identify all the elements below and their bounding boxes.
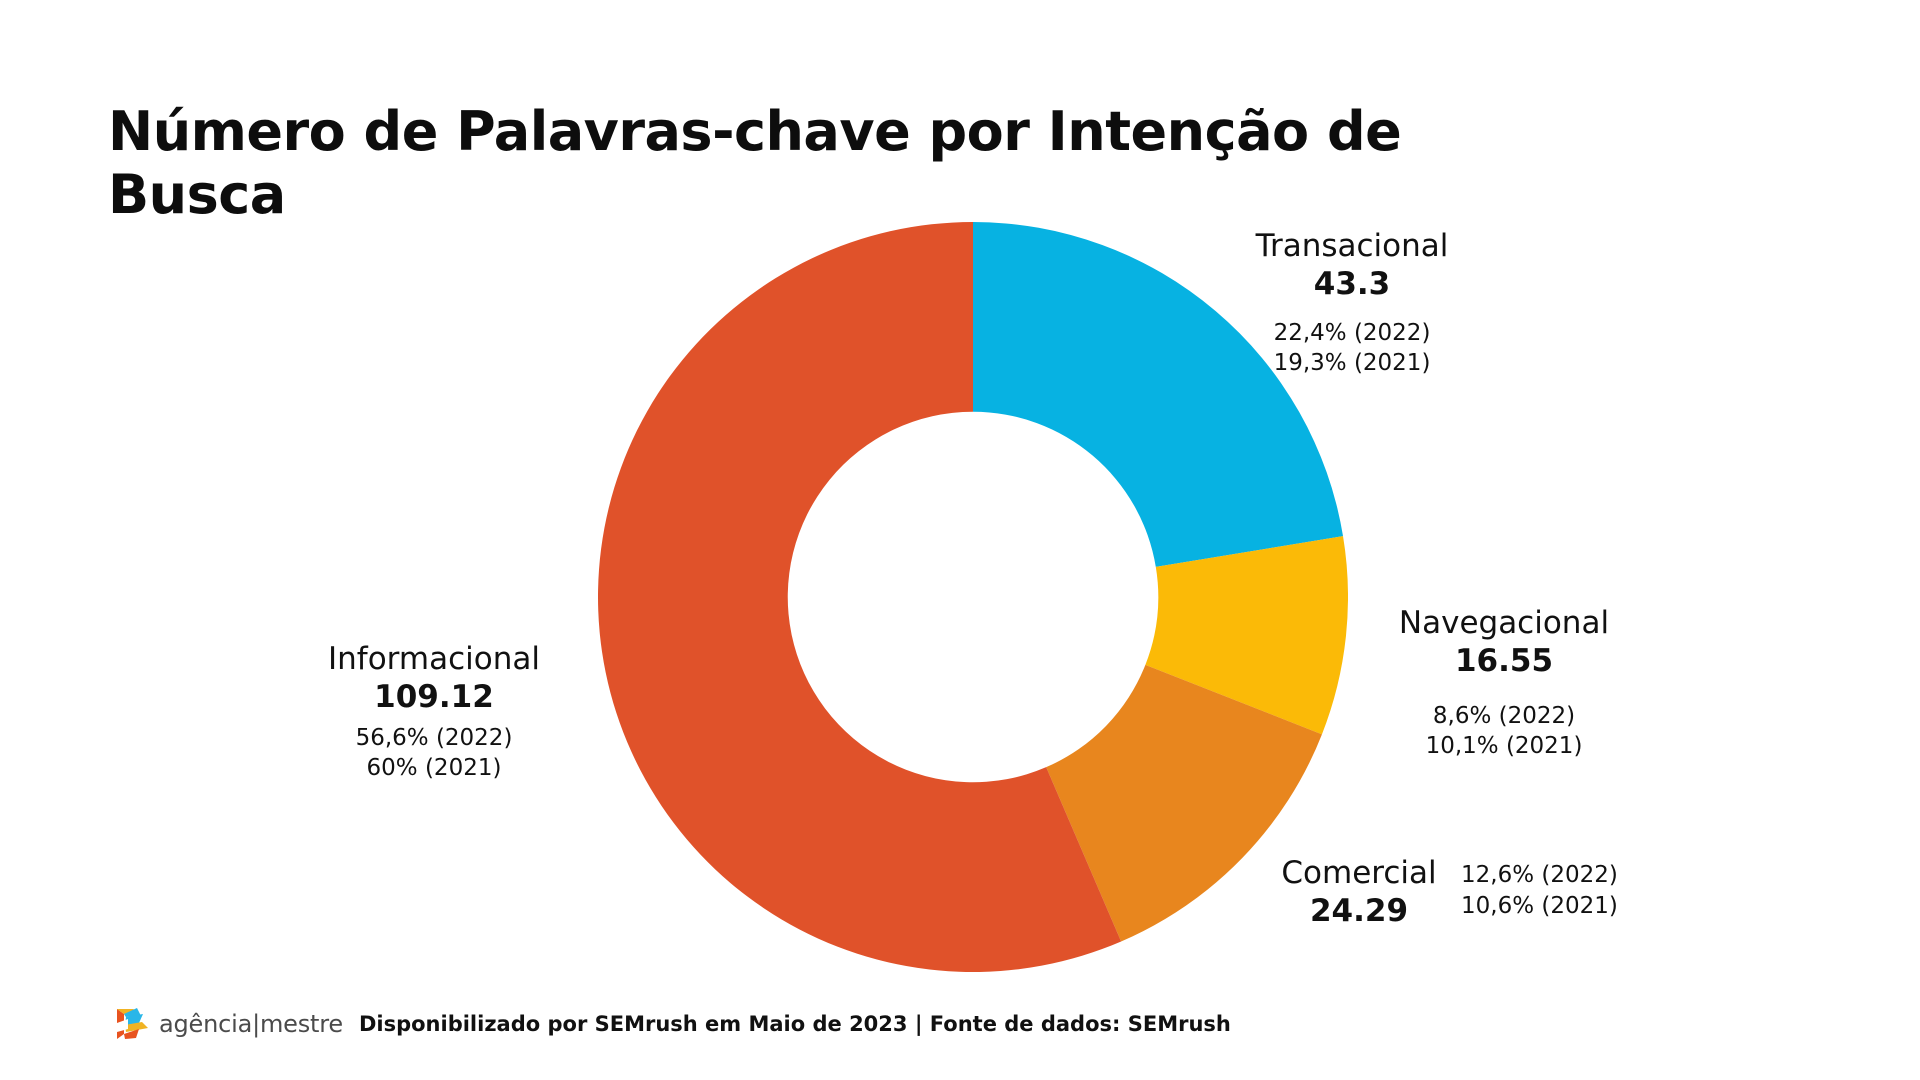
- callout-percentages: 12,6% (2022) 10,6% (2021): [1461, 860, 1618, 922]
- donut-chart-svg: [598, 222, 1348, 972]
- slice-label-informacional: Informacional: [320, 641, 548, 679]
- callout-head: Navegacional 16.55: [1395, 605, 1613, 681]
- slice-value-informacional: 109.12: [320, 679, 548, 717]
- agencia-mestre-pinwheel-icon: [112, 1005, 152, 1043]
- callout-head: Transacional 43.3: [1252, 228, 1452, 304]
- donut-slice-group: [598, 222, 1348, 972]
- slice-pct-2021-navegacional: 10,1% (2021): [1395, 731, 1613, 762]
- slice-label-comercial: Comercial: [1275, 855, 1443, 893]
- brand-wordmark: agência|mestre: [159, 1010, 343, 1038]
- slice-label-navegacional: Navegacional: [1395, 605, 1613, 643]
- callout-navegacional: Navegacional 16.55 8,6% (2022) 10,1% (20…: [1395, 605, 1613, 762]
- callout-percentages: 56,6% (2022) 60% (2021): [320, 723, 548, 785]
- slice-pct-2022-transacional: 22,4% (2022): [1252, 318, 1452, 349]
- slice-value-comercial: 24.29: [1275, 893, 1443, 931]
- callout-percentages: 22,4% (2022) 19,3% (2021): [1252, 318, 1452, 380]
- callout-head: Informacional 109.12: [320, 641, 548, 717]
- slice-pct-2022-informacional: 56,6% (2022): [320, 723, 548, 754]
- callout-transacional: Transacional 43.3 22,4% (2022) 19,3% (20…: [1252, 228, 1452, 379]
- footer-source-text: Disponibilizado por SEMrush em Maio de 2…: [359, 1012, 1231, 1036]
- slice-value-transacional: 43.3: [1252, 266, 1452, 304]
- callout-head: Comercial 24.29: [1275, 855, 1443, 931]
- donut-chart: [598, 222, 1348, 972]
- slice-pct-2021-comercial: 10,6% (2021): [1461, 891, 1618, 922]
- brand-logo: agência|mestre: [112, 1005, 343, 1043]
- slice-pct-2022-comercial: 12,6% (2022): [1461, 860, 1618, 891]
- page-title: Número de Palavras-chave por Intenção de…: [108, 100, 1428, 226]
- callout-informacional: Informacional 109.12 56,6% (2022) 60% (2…: [320, 641, 548, 784]
- slice-pct-2021-transacional: 19,3% (2021): [1252, 348, 1452, 379]
- footer: agência|mestre Disponibilizado por SEMru…: [112, 1005, 1231, 1043]
- slice-pct-2022-navegacional: 8,6% (2022): [1395, 701, 1613, 732]
- slice-pct-2021-informacional: 60% (2021): [320, 753, 548, 784]
- slice-value-navegacional: 16.55: [1395, 643, 1613, 681]
- callout-percentages: 8,6% (2022) 10,1% (2021): [1395, 701, 1613, 763]
- callout-comercial: Comercial 24.29 12,6% (2022) 10,6% (2021…: [1275, 855, 1618, 931]
- slice-label-transacional: Transacional: [1252, 228, 1452, 266]
